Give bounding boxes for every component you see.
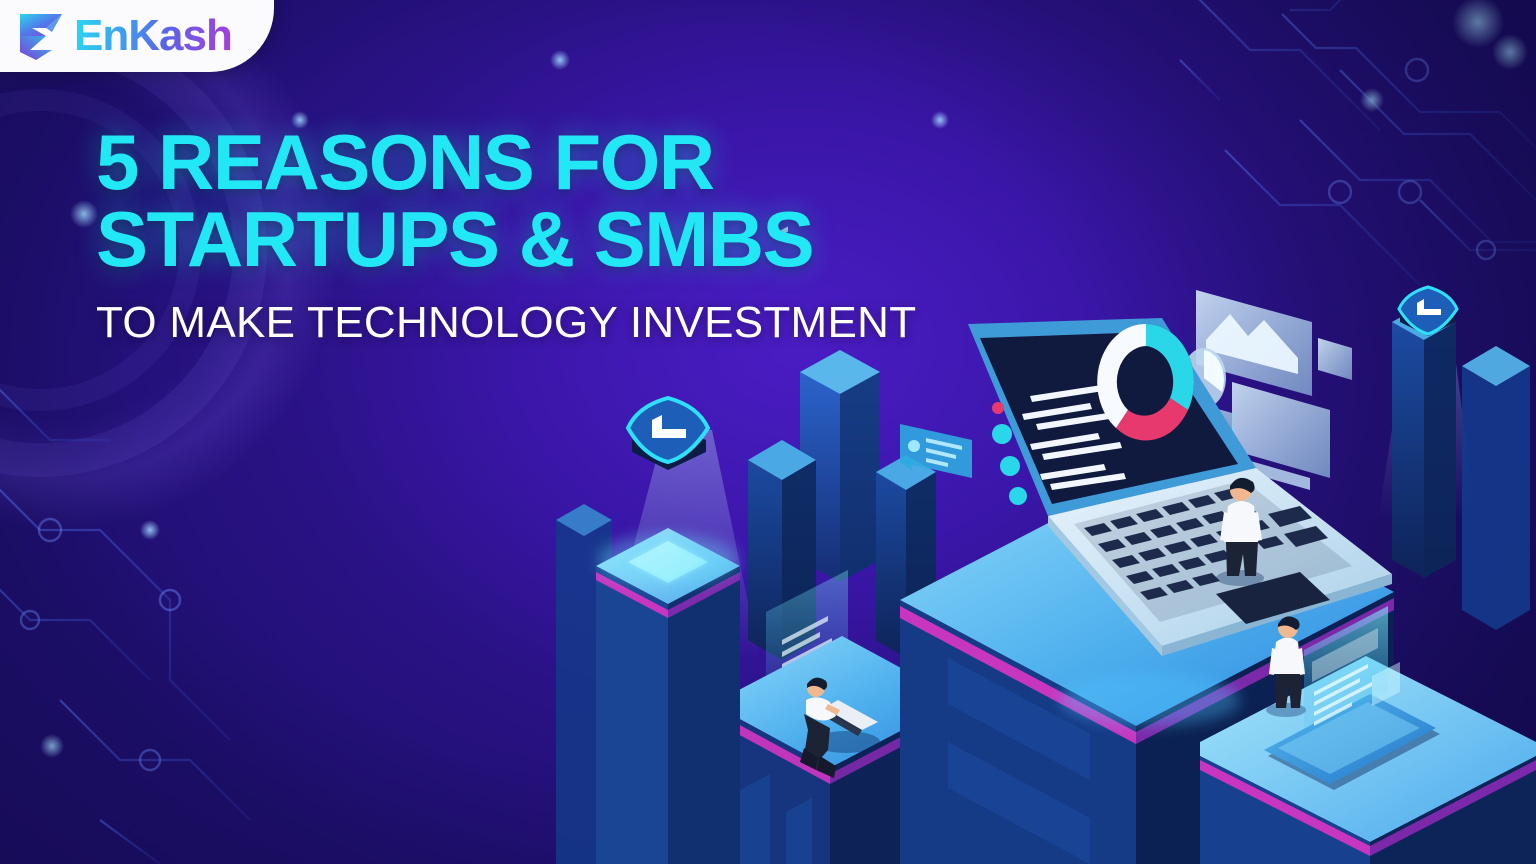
headline-line-1: 5 REASONS FOR xyxy=(96,124,916,201)
card-small-square xyxy=(1318,338,1352,380)
headline-line-2: STARTUPS & SMBS xyxy=(96,201,916,278)
enkash-ribbon-logo-icon xyxy=(12,8,72,64)
headline-block: 5 REASONS FOR STARTUPS & SMBS TO MAKE TE… xyxy=(96,124,916,348)
logo-badge[interactable]: EnKash xyxy=(0,0,274,72)
brand-wordmark: EnKash xyxy=(74,14,232,58)
subtitle: TO MAKE TECHNOLOGY INVESTMENT xyxy=(96,298,916,348)
donut-chart xyxy=(1097,324,1194,440)
banner-canvas: EnKash 5 REASONS FOR STARTUPS & SMBS TO … xyxy=(0,0,1536,864)
